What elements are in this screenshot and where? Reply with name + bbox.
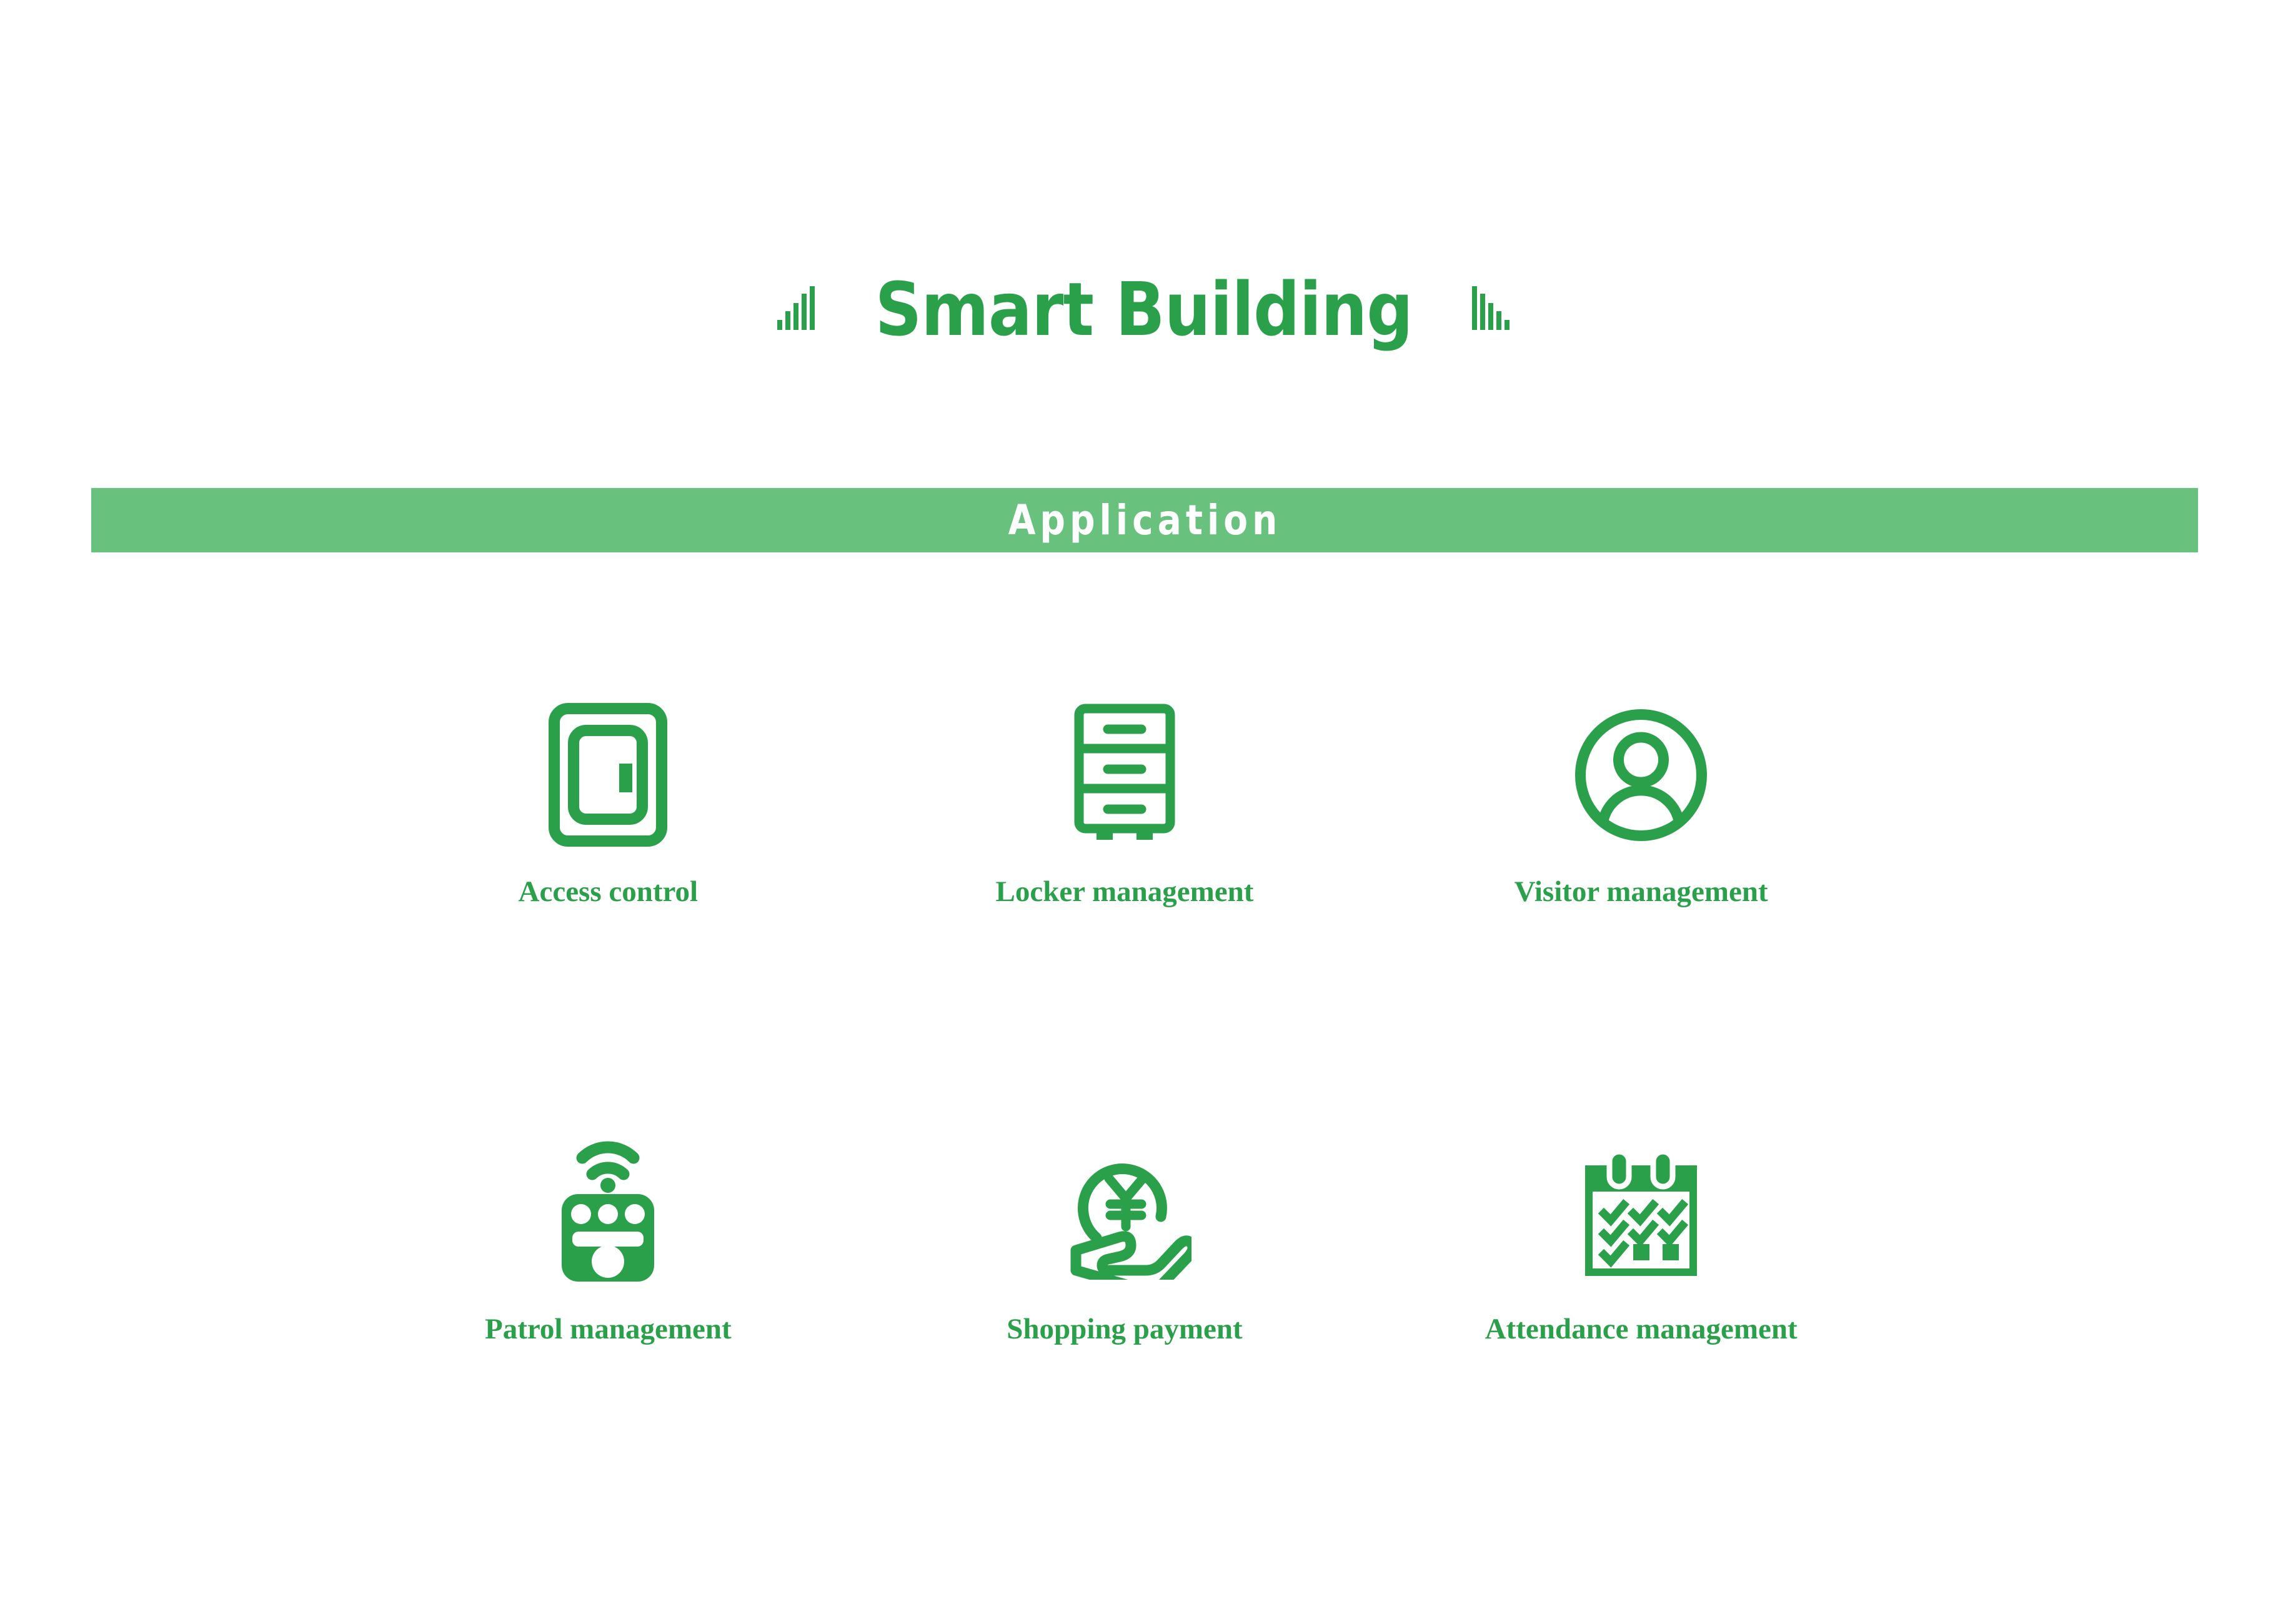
file-cabinet-icon	[1043, 694, 1206, 856]
brand-header: Smart Building	[0, 250, 2288, 369]
app-item-locker-management[interactable]: Locker management	[867, 694, 1383, 919]
user-circle-icon	[1560, 694, 1723, 856]
app-item-visitor-management[interactable]: Visitor management	[1383, 694, 1899, 919]
calendar-checks-icon	[1560, 1131, 1723, 1293]
app-item-shopping-payment[interactable]: Shopping payment	[867, 1131, 1383, 1356]
app-item-label: Locker management	[996, 877, 1254, 907]
door-icon	[527, 694, 689, 856]
page-title: Smart Building	[875, 272, 1413, 346]
bar-chart-ascending-icon	[776, 286, 817, 333]
application-banner-label: Application	[1008, 500, 1281, 541]
app-item-label: Shopping payment	[1007, 1315, 1242, 1344]
app-item-label: Access control	[519, 877, 699, 907]
app-item-access-control[interactable]: Access control	[350, 694, 867, 919]
app-item-label: Patrol management	[485, 1315, 732, 1344]
app-item-label: Attendance management	[1485, 1315, 1798, 1344]
application-banner: Application	[91, 488, 2198, 552]
app-item-label: Visitor management	[1515, 877, 1768, 907]
app-item-attendance-management[interactable]: Attendance management	[1383, 1131, 1899, 1356]
app-item-patrol-management[interactable]: Patrol management	[350, 1131, 867, 1356]
bar-chart-descending-icon	[1471, 286, 1512, 333]
patrol-device-wifi-icon	[527, 1131, 689, 1293]
hand-holding-yen-coin-icon	[1043, 1131, 1206, 1293]
application-grid: Access control Locker management	[350, 694, 1899, 1356]
